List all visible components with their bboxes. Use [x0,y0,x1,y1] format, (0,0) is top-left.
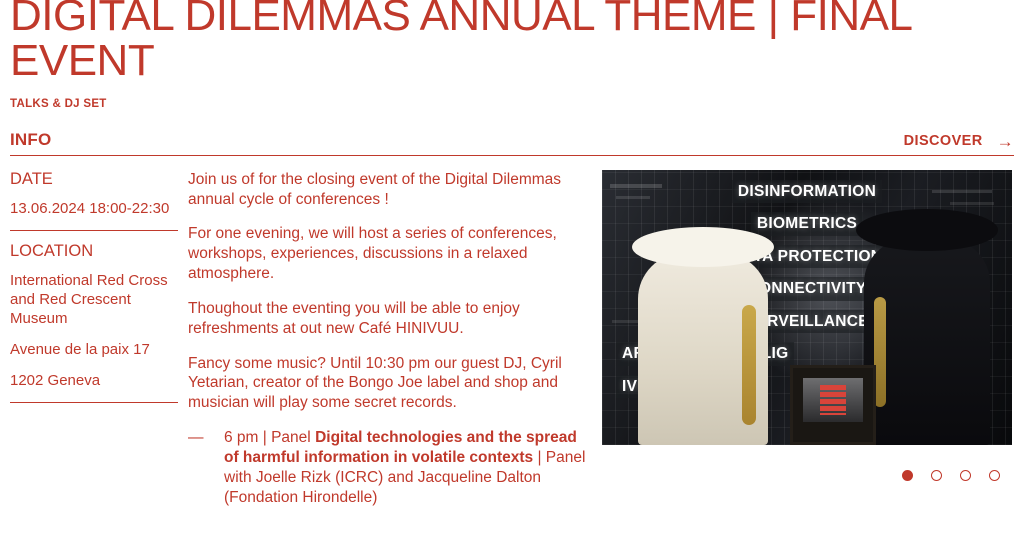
photo-monitor [790,365,876,445]
carousel-dot-1[interactable] [902,470,913,481]
description-paragraph: For one evening, we will host a series o… [188,224,588,283]
schedule-item-text: 6 pm | Panel Digital technologies and th… [224,428,588,509]
sidebar-value-street: Avenue de la paix 17 [10,340,178,359]
page-title: DIGITAL DILEMMAS ANNUAL THEME | FINAL EV… [10,0,1014,84]
arrow-right-icon: → [997,133,1014,150]
description-paragraph: Join us of for the closing event of the … [188,170,588,210]
description-paragraph: Fancy some music? Until 10:30 pm our gue… [188,354,588,413]
content-columns: DATE 13.06.2024 18:00-22:30 LOCATION Int… [10,170,1014,509]
event-photo[interactable]: DISINFORMATION BIOMETRICS DATA PROTECTIO… [602,170,1012,445]
monitor-screen [803,378,863,422]
section-nav-row: INFO DISCOVER → [10,130,1014,156]
discover-label: DISCOVER [904,133,983,149]
sidebar-value-venue: International Red Cross and Red Crescent… [10,271,178,329]
figure-cap-dark [856,209,998,251]
figure-officer-white [638,253,768,445]
figure-braid-white [742,305,756,425]
schedule-item: — 6 pm | Panel Digital technologies and … [188,428,588,509]
media-carousel: DISINFORMATION BIOMETRICS DATA PROTECTIO… [602,170,1014,509]
carousel-dots [902,470,1000,481]
sidebar-heading-location: LOCATION [10,242,178,262]
carousel-dot-2[interactable] [931,470,942,481]
event-description: Join us of for the closing event of the … [178,170,602,509]
discover-link[interactable]: DISCOVER → [904,133,1014,150]
figure-cap-white [632,227,774,267]
sidebar-divider-1 [10,230,178,231]
carousel-dot-4[interactable] [989,470,1000,481]
description-paragraph: Thoughout the eventing you will be able … [188,299,588,339]
sidebar-divider-2 [10,402,178,403]
info-label: INFO [10,130,51,150]
schedule-item-prefix: 6 pm | Panel [224,429,315,446]
schedule-item-marker: — [188,428,224,509]
sidebar-block-date: DATE 13.06.2024 18:00-22:30 [10,170,178,218]
page-title-line-2: EVENT [10,39,1014,84]
sidebar-value-date: 13.06.2024 18:00-22:30 [10,199,178,218]
overlay-label: BIOMETRICS [751,212,863,236]
figure-officer-dark [864,239,990,445]
sidebar-value-city: 1202 Geneva [10,371,178,390]
event-kicker: TALKS & DJ SET [10,98,1014,110]
event-info-sidebar: DATE 13.06.2024 18:00-22:30 LOCATION Int… [10,170,178,509]
sidebar-heading-date: DATE [10,170,178,190]
page-title-line-1: DIGITAL DILEMMAS ANNUAL THEME | FINAL [10,0,912,40]
overlay-label: DISINFORMATION [732,180,882,204]
sidebar-block-location: LOCATION International Red Cross and Red… [10,242,178,391]
carousel-dot-3[interactable] [960,470,971,481]
event-page: DIGITAL DILEMMAS ANNUAL THEME | FINAL EV… [0,0,1024,532]
monitor-graphic [820,385,846,415]
